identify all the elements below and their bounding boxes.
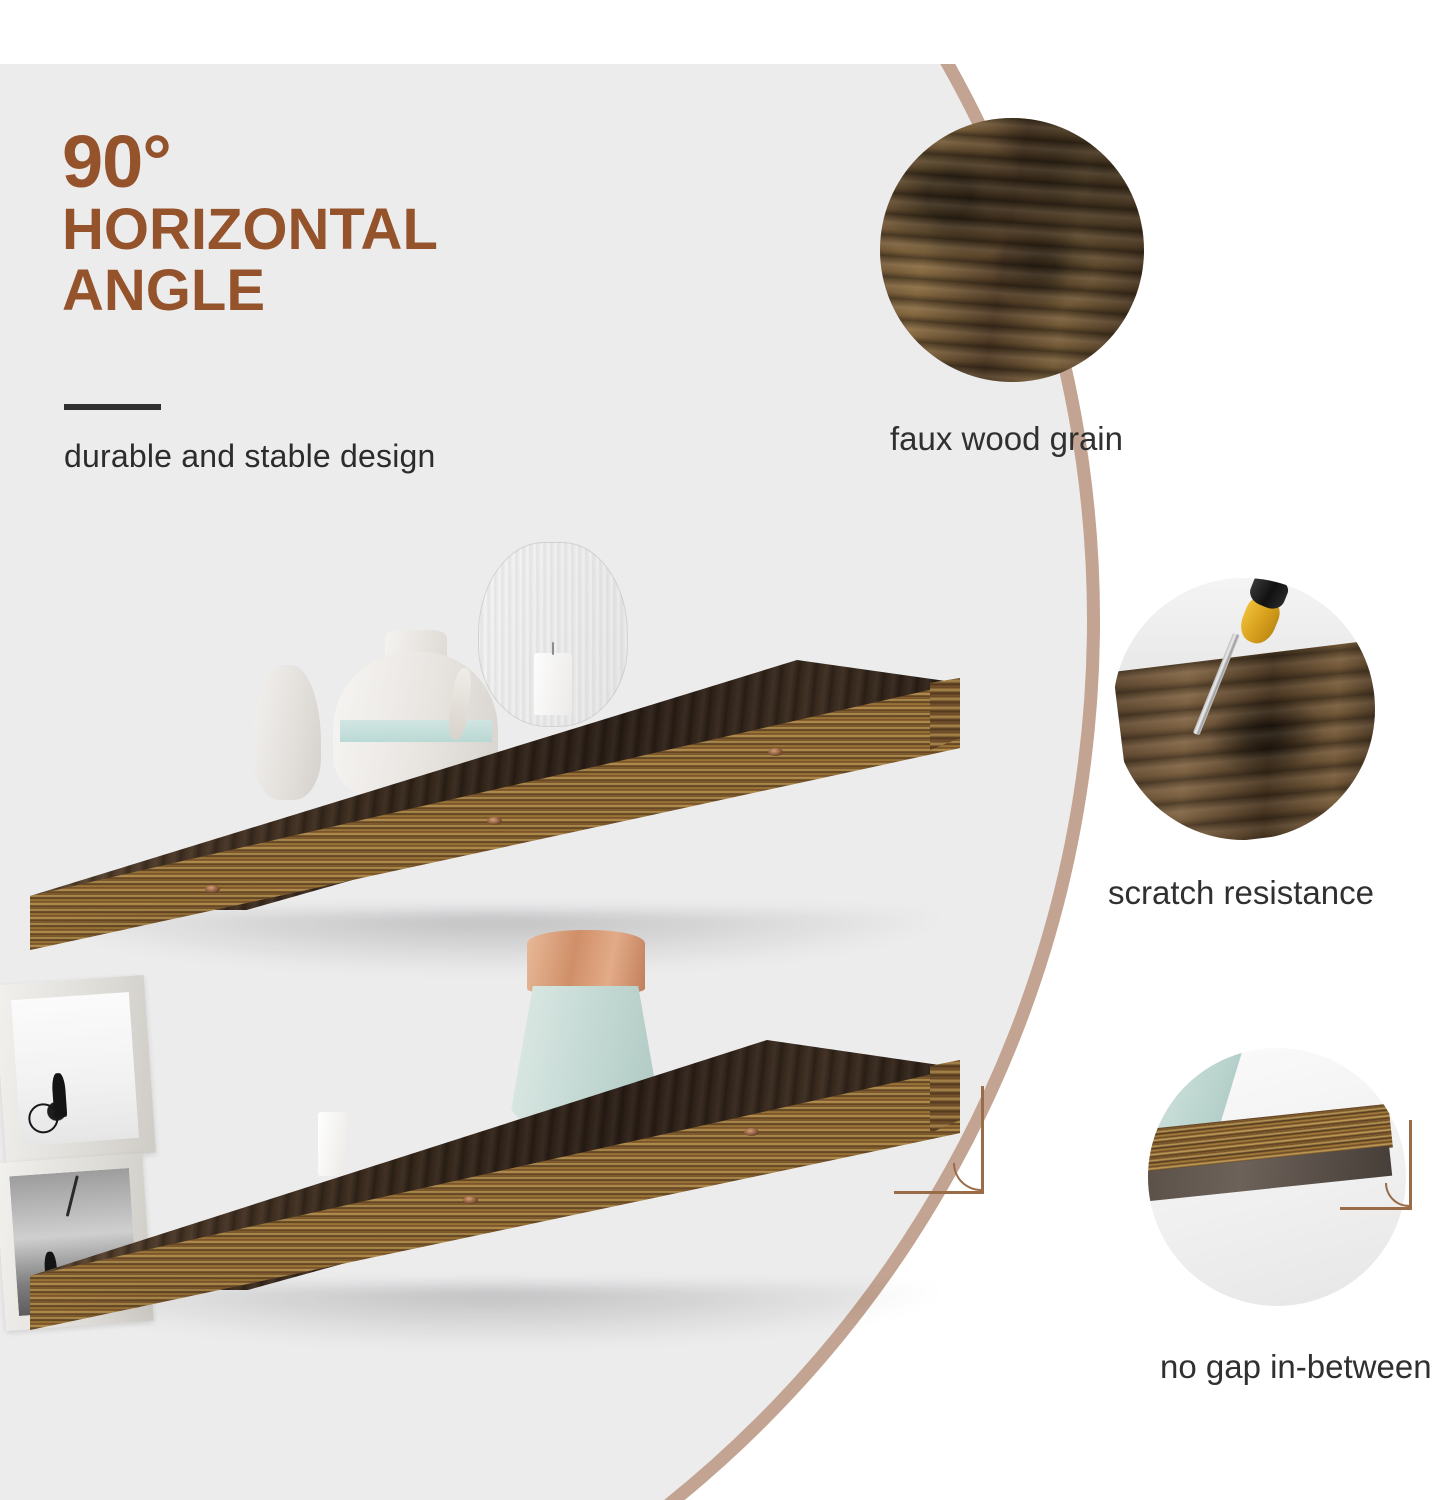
angle-marker-vertical <box>1409 1120 1412 1208</box>
headline-subtitle: durable and stable design <box>64 438 436 475</box>
jug-teal-band <box>340 720 492 742</box>
headline-line-1: HORIZONTAL <box>62 199 682 260</box>
headline-degree: 90° <box>62 126 682 199</box>
angle-marker-horizontal <box>1340 1207 1412 1210</box>
feature-caption: faux wood grain <box>890 420 1123 458</box>
upper-shelf-shadow <box>40 912 940 972</box>
screw-hole <box>205 885 220 893</box>
screw-hole <box>487 817 502 825</box>
small-white-vase <box>253 665 321 800</box>
angle-marker-90deg <box>1340 1120 1412 1210</box>
screw-hole <box>768 748 783 756</box>
upper-shelf-end-cap <box>930 678 962 768</box>
feature-scratch-resistance: scratch resistance <box>1113 578 1443 928</box>
angle-marker-arc <box>953 1163 981 1191</box>
angle-marker-arc <box>1385 1183 1409 1207</box>
product-feature-image: 90° HORIZONTAL ANGLE durable and stable … <box>0 0 1445 1500</box>
angle-marker-90deg <box>894 1086 984 1194</box>
feature-caption: no gap in-between <box>1160 1348 1432 1386</box>
upper-shelf <box>0 620 980 960</box>
screw-hole <box>463 1196 478 1204</box>
candle-wick <box>552 642 554 655</box>
frame-left-photo <box>11 992 139 1146</box>
feature-caption: scratch resistance <box>1108 874 1374 912</box>
top-white-band <box>0 0 1445 64</box>
mint-vase-copper-top <box>527 930 645 992</box>
wood-surface-area <box>1113 640 1375 840</box>
angle-marker-vertical <box>981 1086 984 1191</box>
pillar-candle <box>534 653 572 715</box>
screwdriver-on-wood-circle-icon <box>1113 578 1375 840</box>
lower-shelf <box>0 980 980 1320</box>
angle-marker-horizontal <box>894 1191 984 1194</box>
wood-grain-texture <box>880 118 1144 382</box>
headline-line-2: ANGLE <box>62 260 682 321</box>
headline-divider-rule <box>64 404 161 410</box>
lower-shelf-shadow <box>40 1286 940 1346</box>
wood-swatch-circle-icon <box>880 118 1144 382</box>
headline-block: 90° HORIZONTAL ANGLE <box>62 126 682 321</box>
screw-hole <box>744 1128 759 1136</box>
feature-no-gap-in-between: no gap in-between <box>1148 1048 1445 1408</box>
picture-frame-left <box>0 975 156 1163</box>
feature-faux-wood-grain: faux wood grain <box>880 118 1420 488</box>
white-candle <box>318 1112 346 1176</box>
